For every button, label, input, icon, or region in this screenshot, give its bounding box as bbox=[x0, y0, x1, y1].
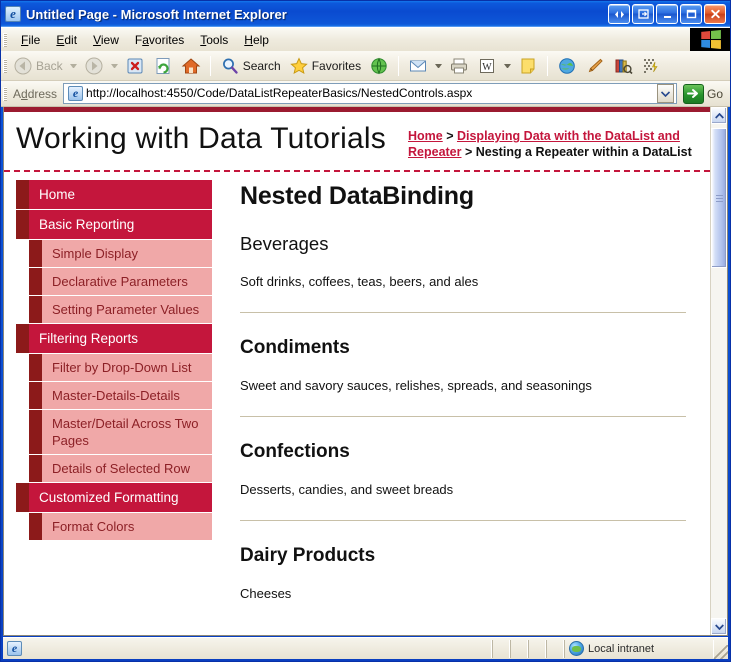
sidebar-accent-tab bbox=[29, 513, 42, 540]
page-viewport: Working with Data Tutorials Home > Displ… bbox=[3, 107, 728, 636]
section-divider bbox=[240, 312, 686, 313]
section-divider bbox=[240, 520, 686, 521]
status-pane-3 bbox=[528, 640, 546, 658]
sidebar-accent-tab bbox=[29, 410, 42, 454]
menu-favorites[interactable]: Favorites bbox=[127, 30, 192, 50]
sidebar-item-label: Setting Parameter Values bbox=[42, 296, 212, 323]
sidebar-item-format-colors[interactable]: Format Colors bbox=[29, 513, 212, 540]
scrollbar-grip bbox=[716, 195, 723, 202]
favorites-label: Favorites bbox=[312, 59, 361, 73]
edit-button[interactable]: W bbox=[473, 54, 501, 78]
research-books-icon bbox=[613, 56, 633, 76]
sidebar-accent-tab bbox=[16, 324, 29, 353]
svg-text:W: W bbox=[482, 62, 492, 73]
refresh-icon bbox=[153, 56, 173, 76]
star-icon bbox=[289, 56, 309, 76]
toolbar-separator-2 bbox=[398, 56, 399, 76]
sidebar-accent-tab bbox=[16, 210, 29, 239]
home-button[interactable] bbox=[177, 54, 205, 78]
menubar-grip[interactable] bbox=[1, 28, 9, 51]
word-edit-icon: W bbox=[477, 56, 497, 76]
research-button[interactable] bbox=[609, 54, 637, 78]
sidebar-item-declarative-parameters[interactable]: Declarative Parameters bbox=[29, 268, 212, 295]
sidebar-item-customized-formatting[interactable]: Customized Formatting bbox=[16, 483, 212, 512]
main-toolbar: Back Sea bbox=[1, 51, 730, 81]
media-button[interactable] bbox=[365, 54, 393, 78]
address-bar: Address Go bbox=[1, 81, 730, 107]
sidebar-item-filtering-reports[interactable]: Filtering Reports bbox=[16, 324, 212, 353]
sidebar-item-details-of-selected-row[interactable]: Details of Selected Row bbox=[29, 455, 212, 482]
back-label: Back bbox=[36, 59, 63, 73]
restore-split-button[interactable] bbox=[608, 4, 630, 24]
messenger-button[interactable] bbox=[553, 54, 581, 78]
menu-help[interactable]: Help bbox=[236, 30, 277, 50]
category-description: Sweet and savory sauces, relishes, sprea… bbox=[240, 377, 686, 394]
category-title: Condiments bbox=[240, 337, 686, 359]
status-pane-2 bbox=[510, 640, 528, 658]
menu-items: File Edit View Favorites Tools Help bbox=[9, 28, 690, 51]
category-description: Desserts, candies, and sweet breads bbox=[240, 481, 686, 498]
encarta-button[interactable] bbox=[637, 54, 665, 78]
sidebar-item-label: Home bbox=[29, 180, 212, 209]
scroll-down-button[interactable] bbox=[711, 618, 727, 635]
status-bar: Local intranet bbox=[3, 637, 728, 659]
menu-bar: File Edit View Favorites Tools Help bbox=[1, 27, 730, 51]
category-title: Dairy Products bbox=[240, 545, 686, 567]
sidebar-accent-tab bbox=[29, 455, 42, 482]
forward-dropdown-caret[interactable] bbox=[111, 64, 118, 68]
stop-button[interactable] bbox=[121, 54, 149, 78]
sidebar-accent-tab bbox=[16, 180, 29, 209]
category-title: Confections bbox=[240, 441, 686, 463]
content-heading: Nested DataBinding bbox=[240, 182, 686, 211]
sidebar-nav: Home Basic Reporting Simple Display Decl… bbox=[4, 172, 212, 541]
address-label: Address bbox=[9, 87, 63, 101]
status-page-icon bbox=[7, 641, 22, 656]
restore-window-button[interactable] bbox=[632, 4, 654, 24]
toolbar-separator-3 bbox=[547, 56, 548, 76]
mail-icon bbox=[408, 56, 428, 76]
close-button[interactable] bbox=[704, 4, 726, 24]
pen-icon bbox=[585, 56, 605, 76]
sidebar-item-home[interactable]: Home bbox=[16, 180, 212, 209]
encarta-icon bbox=[641, 56, 661, 76]
print-button[interactable] bbox=[445, 54, 473, 78]
back-arrow-icon bbox=[13, 56, 33, 76]
address-dropdown-button[interactable] bbox=[657, 84, 674, 103]
section-divider bbox=[240, 416, 686, 417]
sidebar-item-filter-by-drop-down-list[interactable]: Filter by Drop-Down List bbox=[29, 354, 212, 381]
printer-icon bbox=[449, 56, 469, 76]
go-label: Go bbox=[707, 87, 723, 101]
sidebar-accent-tab bbox=[29, 268, 42, 295]
go-arrow-icon bbox=[683, 84, 704, 104]
note-icon bbox=[518, 56, 538, 76]
vertical-scrollbar[interactable] bbox=[710, 107, 727, 635]
category-description: Soft drinks, coffees, teas, beers, and a… bbox=[240, 273, 686, 290]
scrollbar-thumb[interactable] bbox=[711, 128, 727, 268]
menu-file[interactable]: File bbox=[13, 30, 48, 50]
ie-document-icon bbox=[5, 6, 21, 22]
category-section-condiments: Condiments Sweet and savory sauces, reli… bbox=[240, 337, 686, 417]
title-bar[interactable]: Untitled Page - Microsoft Internet Explo… bbox=[1, 1, 730, 27]
edit-dropdown-caret[interactable] bbox=[504, 64, 511, 68]
toolbar-separator bbox=[210, 56, 211, 76]
address-input[interactable] bbox=[86, 85, 657, 102]
highlight-button[interactable] bbox=[581, 54, 609, 78]
notes-button[interactable] bbox=[514, 54, 542, 78]
sidebar-item-label: Filtering Reports bbox=[29, 324, 212, 353]
sidebar-item-label: Filter by Drop-Down List bbox=[42, 354, 212, 381]
back-button[interactable]: Back bbox=[9, 54, 67, 78]
toolbar-grip[interactable] bbox=[1, 59, 9, 73]
windows-flag-icon bbox=[690, 28, 730, 51]
sidebar-accent-tab bbox=[29, 296, 42, 323]
category-section-confections: Confections Desserts, candies, and sweet… bbox=[240, 441, 686, 521]
sidebar-item-label: Format Colors bbox=[42, 513, 212, 540]
mail-dropdown-caret[interactable] bbox=[435, 64, 442, 68]
search-button[interactable]: Search bbox=[216, 54, 285, 78]
sidebar-item-label: Master/Detail Across Two Pages bbox=[42, 410, 212, 454]
menu-view[interactable]: View bbox=[85, 30, 127, 50]
address-input-wrap[interactable] bbox=[63, 83, 677, 104]
addressbar-grip[interactable] bbox=[1, 87, 9, 101]
refresh-button[interactable] bbox=[149, 54, 177, 78]
breadcrumb: Home > Displaying Data with the DataList… bbox=[386, 118, 700, 160]
ie-page-icon bbox=[68, 86, 83, 101]
security-zone[interactable]: Local intranet bbox=[564, 640, 714, 658]
minimize-button[interactable] bbox=[656, 4, 678, 24]
scrollbar-track[interactable] bbox=[711, 124, 727, 618]
page-header: Working with Data Tutorials Home > Displ… bbox=[4, 112, 710, 172]
status-pane-4 bbox=[546, 640, 564, 658]
sidebar-accent-tab bbox=[29, 354, 42, 381]
mail-button[interactable] bbox=[404, 54, 432, 78]
intranet-globe-icon bbox=[569, 641, 584, 656]
sidebar-item-basic-reporting[interactable]: Basic Reporting bbox=[16, 210, 212, 239]
scroll-up-button[interactable] bbox=[711, 107, 727, 124]
globe-icon bbox=[557, 56, 577, 76]
forward-button[interactable] bbox=[80, 54, 108, 78]
page-body: Home Basic Reporting Simple Display Decl… bbox=[4, 172, 710, 624]
status-pane-1 bbox=[492, 640, 510, 658]
sidebar-item-label: Simple Display bbox=[42, 240, 212, 267]
sidebar-item-label: Basic Reporting bbox=[29, 210, 212, 239]
status-message bbox=[3, 640, 492, 658]
menu-edit[interactable]: Edit bbox=[48, 30, 85, 50]
maximize-button[interactable] bbox=[680, 4, 702, 24]
media-globe-icon bbox=[369, 56, 389, 76]
web-page: Working with Data Tutorials Home > Displ… bbox=[4, 107, 710, 635]
page-title: Working with Data Tutorials bbox=[16, 118, 386, 160]
breadcrumb-sep-1: > bbox=[443, 129, 457, 143]
breadcrumb-link-home[interactable]: Home bbox=[408, 129, 443, 143]
security-zone-label: Local intranet bbox=[588, 643, 654, 655]
browser-window: Untitled Page - Microsoft Internet Explo… bbox=[0, 0, 731, 662]
back-dropdown-caret[interactable] bbox=[70, 64, 77, 68]
forward-arrow-icon bbox=[84, 56, 104, 76]
favorites-button[interactable]: Favorites bbox=[285, 54, 365, 78]
sidebar-item-label: Customized Formatting bbox=[29, 483, 212, 512]
window-controls bbox=[608, 4, 728, 24]
breadcrumb-current: Nesting a Repeater within a DataList bbox=[476, 145, 692, 159]
sidebar-item-label: Declarative Parameters bbox=[42, 268, 212, 295]
category-section-dairy-products: Dairy Products Cheeses bbox=[240, 545, 686, 602]
go-button[interactable]: Go bbox=[682, 83, 727, 105]
sidebar-item-label: Details of Selected Row bbox=[42, 455, 212, 482]
home-icon bbox=[181, 56, 201, 76]
category-description: Cheeses bbox=[240, 585, 686, 602]
sidebar-accent-tab bbox=[16, 483, 29, 512]
main-content: Nested DataBinding Beverages Soft drinks… bbox=[212, 172, 710, 624]
breadcrumb-sep-2: > bbox=[462, 145, 476, 159]
resize-grip[interactable] bbox=[714, 645, 728, 659]
sidebar-item-setting-parameter-values[interactable]: Setting Parameter Values bbox=[29, 296, 212, 323]
window-title: Untitled Page - Microsoft Internet Explo… bbox=[26, 7, 608, 22]
search-label: Search bbox=[243, 59, 281, 73]
stop-icon bbox=[125, 56, 145, 76]
magnifier-icon bbox=[220, 56, 240, 76]
sidebar-item-master-detail-across-two-pages[interactable]: Master/Detail Across Two Pages bbox=[29, 410, 212, 454]
sidebar-item-simple-display[interactable]: Simple Display bbox=[29, 240, 212, 267]
sidebar-item-label: Master-Details-Details bbox=[42, 382, 212, 409]
menu-tools[interactable]: Tools bbox=[192, 30, 236, 50]
category-section-beverages: Beverages Soft drinks, coffees, teas, be… bbox=[240, 233, 686, 313]
category-title: Beverages bbox=[240, 233, 686, 255]
sidebar-accent-tab bbox=[29, 240, 42, 267]
sidebar-accent-tab bbox=[29, 382, 42, 409]
sidebar-item-master-details-details[interactable]: Master-Details-Details bbox=[29, 382, 212, 409]
